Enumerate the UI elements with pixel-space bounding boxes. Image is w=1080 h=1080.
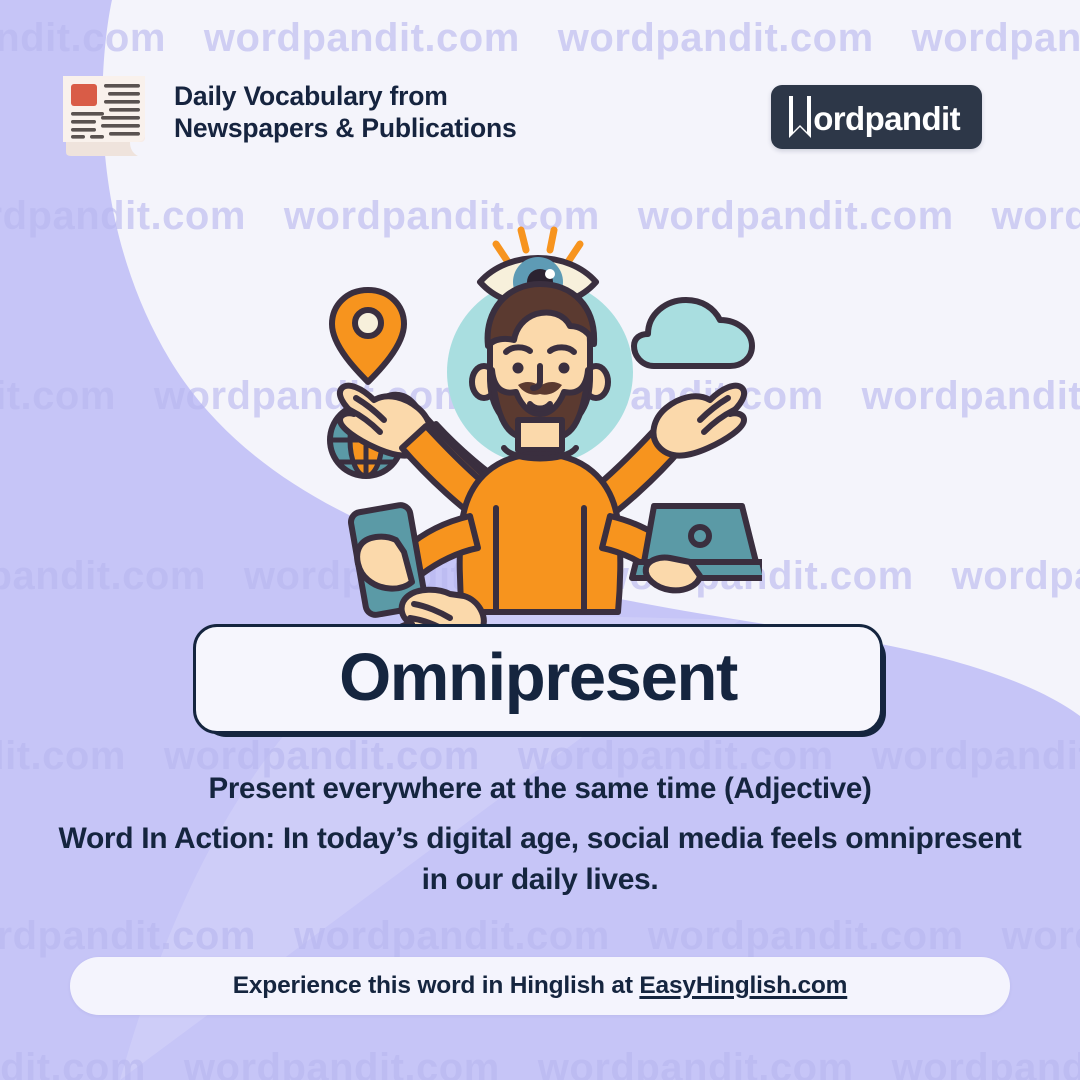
wordpandit-logo[interactable]: ordpandit [771,85,982,149]
location-pin-icon [332,290,404,382]
logo-text: ordpandit [813,102,960,135]
poster-canvas: wordpandit.comwordpandit.comwordpandit.c… [0,0,1080,1080]
footer-prefix: Experience this word in Hinglish at [233,972,640,999]
illustration-omnipresent-man: .ol{stroke:#3a2f3f;stroke-width:6;stroke… [318,222,762,630]
header: Daily Vocabulary from Newspapers & Publi… [52,64,517,160]
right-lower-arm-laptop [602,506,762,590]
definition-text: Present everywhere at the same time (Adj… [60,772,1020,806]
footer-cta-bar[interactable]: Experience this word in Hinglish at Easy… [70,957,1010,1015]
right-hand-open [653,386,744,456]
easyhinglish-link[interactable]: EasyHinglish.com [639,972,847,999]
headword-text: Omnipresent [339,644,737,711]
headword-card-face: Omnipresent [193,624,883,734]
newspaper-icon [52,64,156,160]
header-title: Daily Vocabulary from Newspapers & Publi… [174,80,517,145]
cloud-icon [634,300,752,366]
laptop-icon [644,506,756,562]
torso-sweater [460,454,621,612]
headword-card: Omnipresent [193,624,877,728]
usage-text: Word In Action: In today’s digital age, … [42,818,1038,900]
footer-text: Experience this word in Hinglish at Easy… [233,972,848,1000]
neck [518,420,562,450]
bookmark-icon [787,94,813,140]
